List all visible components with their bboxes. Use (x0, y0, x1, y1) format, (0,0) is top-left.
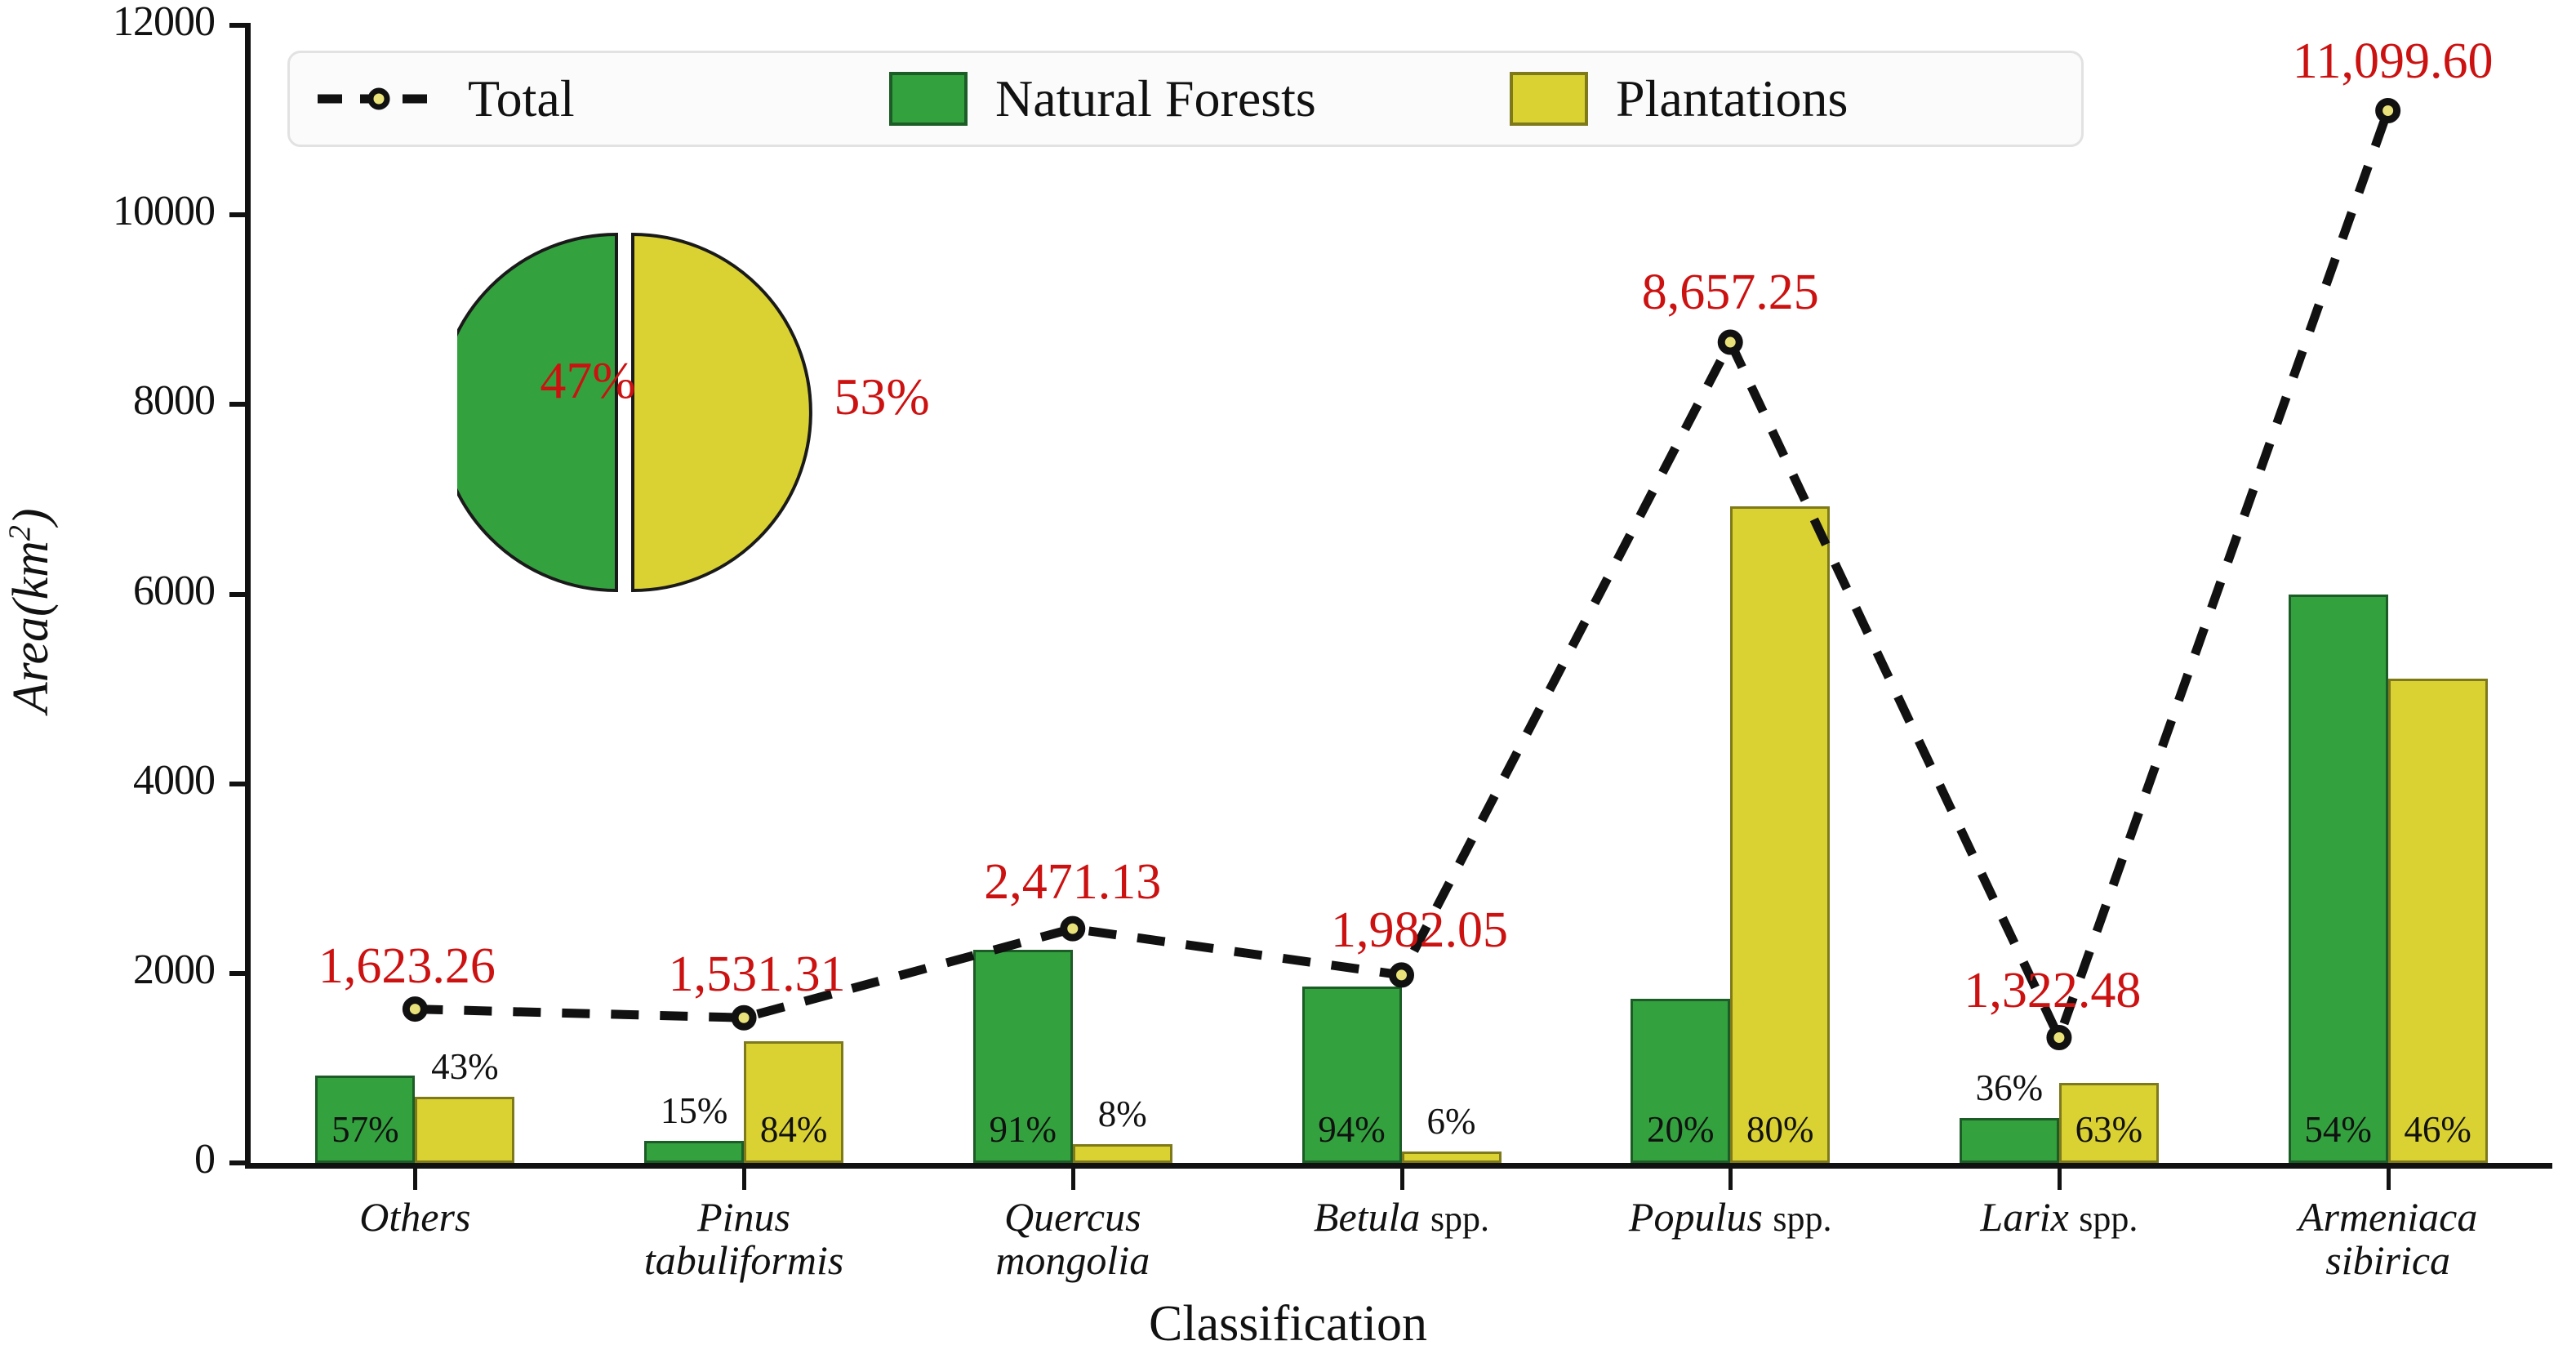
total-line-marker[interactable] (1721, 333, 1739, 351)
bar-plantations[interactable]: 43% (415, 1097, 514, 1163)
legend-item-natural-forests[interactable]: Natural Forests (889, 69, 1510, 129)
x-axis-title: Classification (0, 1295, 2576, 1353)
total-value-label: 1,531.31 (545, 946, 969, 1004)
x-tick-mark (1728, 1169, 1733, 1190)
total-line-marker[interactable] (735, 1009, 753, 1027)
total-value-label: 8,657.25 (1518, 264, 1942, 322)
y-axis-title: Area(km2) (2, 260, 60, 962)
bar-natural-forests[interactable]: 54% (2289, 595, 2388, 1163)
bar-plantations[interactable]: 6% (1402, 1151, 1502, 1163)
y-tick-label: 12000 (0, 0, 215, 46)
bar-percent-label: 54% (2291, 1108, 2386, 1151)
y-tick-label: 0 (0, 1135, 215, 1183)
y-tick-mark (229, 212, 251, 217)
bar-plantations[interactable]: 8% (1073, 1144, 1172, 1163)
bar-natural-forests[interactable]: 36% (1960, 1118, 2059, 1163)
chart-legend[interactable]: Total Natural Forests Plantations (287, 51, 2084, 147)
total-line-marker[interactable] (2050, 1028, 2068, 1046)
bar-percent-label: 84% (746, 1108, 841, 1151)
y-axis-title-text: Area(km2) (3, 508, 59, 713)
x-tick-label: Armeniacasibirica (2199, 1196, 2576, 1281)
bar-percent-label: 6% (1404, 1100, 1499, 1143)
bar-percent-label: 91% (976, 1108, 1070, 1151)
total-value-label: 1,982.05 (1208, 902, 1632, 960)
pie-chart-inset: 47% 53% (457, 208, 1078, 617)
pie-slice-natural-forests (457, 234, 616, 590)
yellow-square-icon (1510, 72, 1588, 126)
y-tick-mark (229, 402, 251, 407)
bar-percent-label: 20% (1633, 1108, 1728, 1151)
y-tick-mark (229, 782, 251, 786)
legend-item-plantations[interactable]: Plantations (1510, 69, 1848, 129)
bar-natural-forests[interactable]: 94% (1302, 987, 1402, 1163)
x-tick-mark (2387, 1169, 2391, 1190)
x-axis-line (245, 1163, 2552, 1169)
x-tick-mark (742, 1169, 746, 1190)
pie-slice-plantations (633, 234, 811, 590)
pie-label-plantations: 53% (800, 367, 963, 427)
x-tick-label: Pinustabuliformis (555, 1196, 933, 1281)
bar-plantations[interactable]: 84% (744, 1041, 843, 1163)
total-line-marker[interactable] (2379, 102, 2397, 120)
bar-plantations[interactable]: 63% (2059, 1083, 2159, 1163)
x-tick-label: Larix spp. (1871, 1196, 2249, 1239)
x-tick-mark (1400, 1169, 1404, 1190)
bar-natural-forests[interactable]: 91% (973, 950, 1073, 1163)
pie-label-natural-forests: 47% (506, 350, 670, 411)
chart-canvas: 020004000600080001000012000 Area(km2) Cl… (0, 0, 2576, 1372)
bar-natural-forests[interactable]: 57% (315, 1076, 415, 1163)
total-value-label: 11,099.60 (2181, 33, 2576, 91)
bar-plantations[interactable]: 46% (2388, 679, 2488, 1163)
bar-percent-label: 80% (1733, 1108, 1827, 1151)
bar-natural-forests[interactable]: 15% (644, 1141, 744, 1163)
y-tick-mark (229, 592, 251, 597)
bar-percent-label: 94% (1305, 1108, 1399, 1151)
bar-percent-label: 43% (417, 1045, 512, 1088)
bar-percent-label: 36% (1962, 1067, 2057, 1109)
y-tick-mark (229, 1160, 251, 1165)
total-line-marker[interactable] (406, 1000, 424, 1018)
green-square-icon (889, 72, 968, 126)
x-tick-label: Others (226, 1196, 604, 1239)
x-tick-label: Populus spp. (1542, 1196, 1920, 1239)
x-tick-label: Betula spp. (1212, 1196, 1591, 1239)
dashed-line-circle-icon (318, 87, 440, 111)
bar-percent-label: 57% (318, 1108, 412, 1151)
total-line-marker[interactable] (1393, 966, 1411, 984)
bar-percent-label: 8% (1075, 1093, 1170, 1135)
y-tick-label: 10000 (0, 187, 215, 235)
x-tick-label: Quercusmongolia (883, 1196, 1261, 1281)
bar-natural-forests[interactable]: 20% (1631, 999, 1730, 1163)
bar-percent-label: 63% (2062, 1108, 2156, 1151)
total-line-marker[interactable] (1064, 920, 1082, 938)
total-value-label: 1,322.48 (1840, 962, 2265, 1020)
legend-label-total: Total (468, 69, 575, 129)
x-tick-mark (2058, 1169, 2062, 1190)
legend-item-total[interactable]: Total (318, 69, 889, 129)
legend-label-plantations: Plantations (1616, 69, 1848, 129)
bar-percent-label: 15% (647, 1089, 741, 1132)
bar-percent-label: 46% (2391, 1108, 2485, 1151)
x-tick-mark (413, 1169, 417, 1190)
x-tick-mark (1071, 1169, 1075, 1190)
bar-plantations[interactable]: 80% (1730, 506, 1830, 1163)
legend-label-natural-forests: Natural Forests (995, 69, 1316, 129)
y-tick-mark (229, 23, 251, 28)
